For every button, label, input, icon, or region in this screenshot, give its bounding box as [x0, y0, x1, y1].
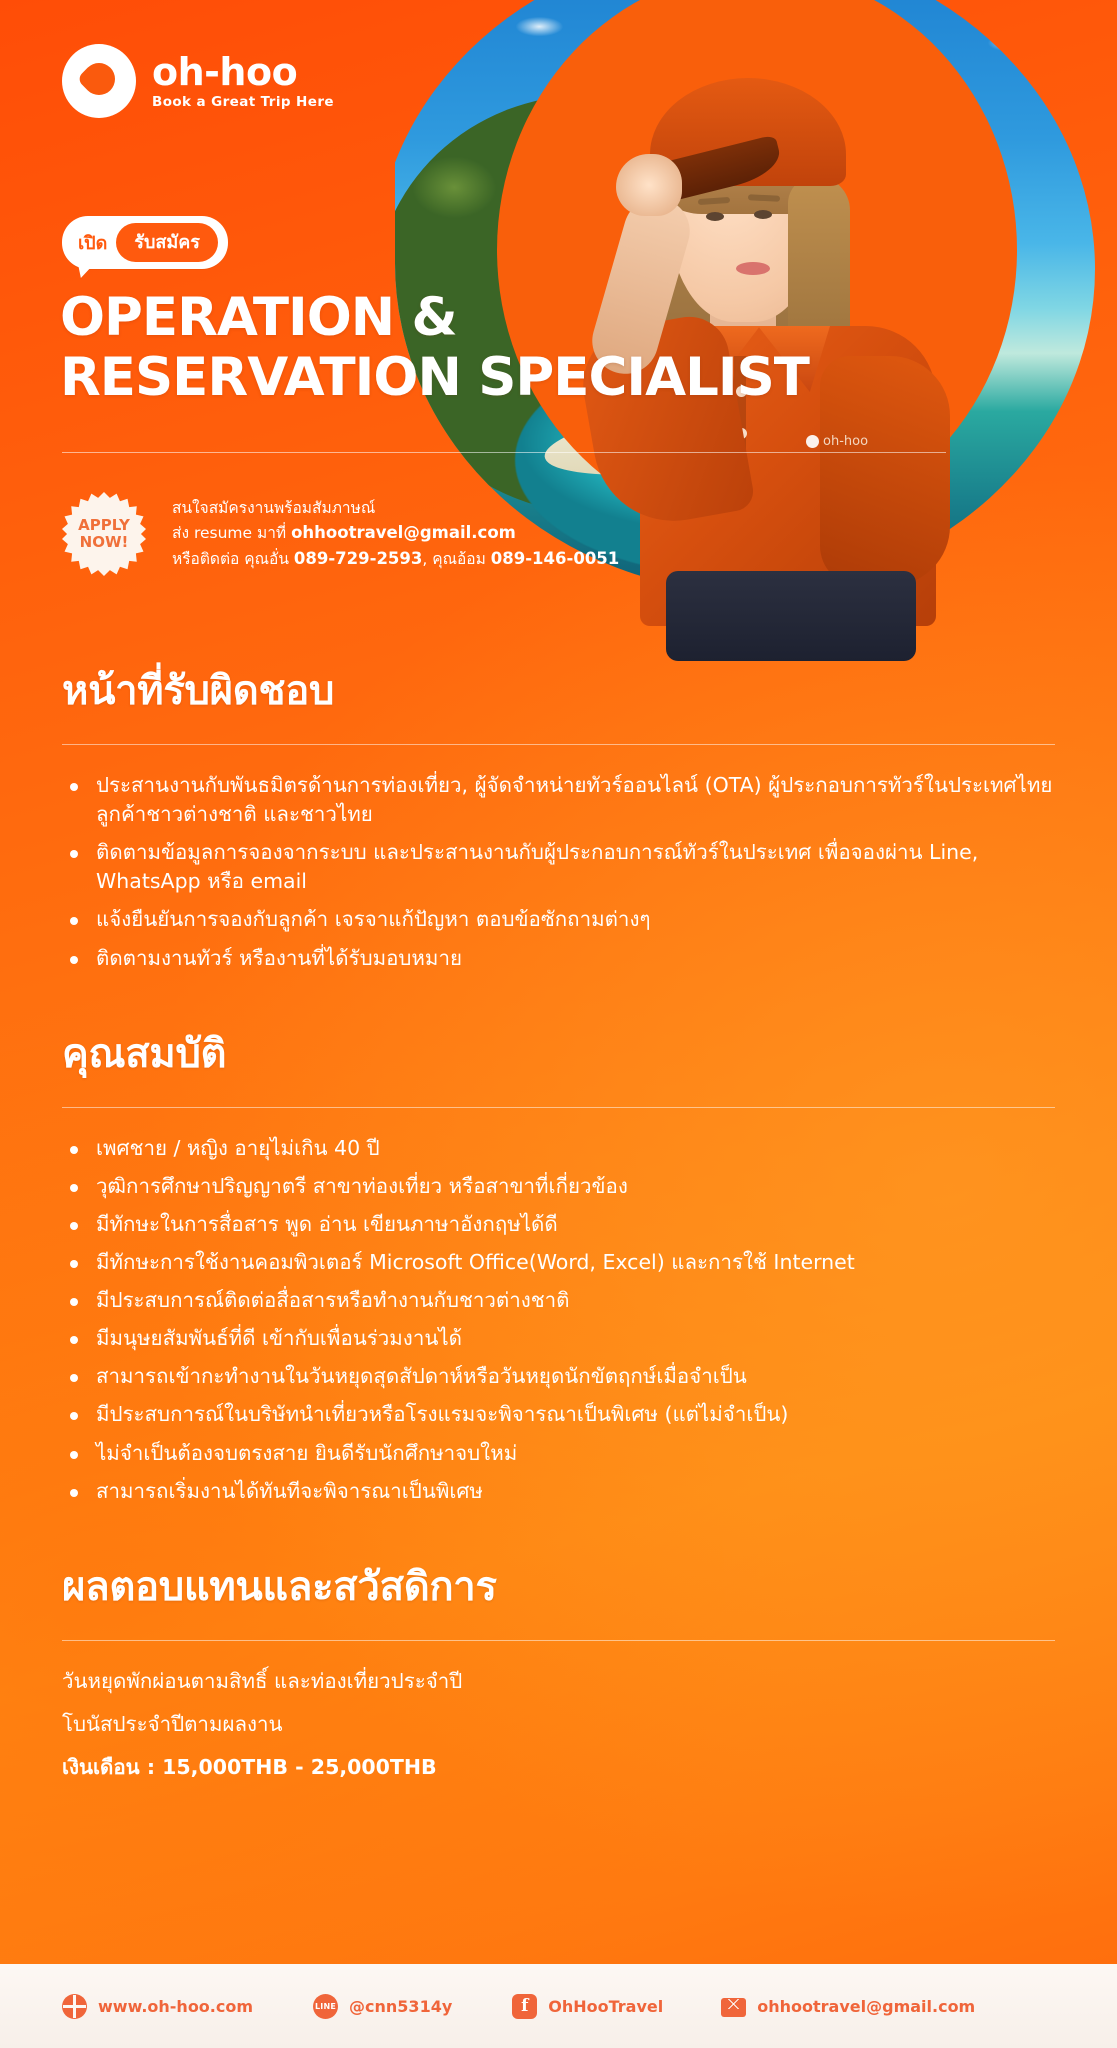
trousers	[666, 571, 916, 661]
apply-now-stamp: APPLY NOW!	[62, 492, 146, 576]
footer-item-email[interactable]: ohhootravel@gmail.com	[721, 1995, 975, 2017]
benefits-section: ผลตอบแทนและสวัสดิการ วันหยุดพักผ่อนตามสิ…	[0, 1554, 1117, 1782]
phone-number-2[interactable]: 089-146-0051	[491, 549, 620, 568]
footer-contact-bar: www.oh-hoo.com LINE @cnn5314y f OhHooTra…	[0, 1964, 1117, 2048]
page-title: OPERATION & RESERVATION SPECIALIST	[60, 288, 809, 409]
list-item: มีทักษะในการสื่อสาร พูด อ่าน เขียนภาษาอั…	[62, 1210, 1055, 1239]
section-divider	[62, 1640, 1055, 1641]
list-item: ติดตามงานทัวร์ หรืองานที่ได้รับมอบหมาย	[62, 944, 1055, 973]
globe-icon	[62, 1994, 87, 2019]
resume-email[interactable]: ohhootravel@gmail.com	[291, 523, 516, 542]
brand-logo[interactable]: oh-hoo Book a Great Trip Here	[62, 44, 334, 118]
shirt-logo-mark	[806, 435, 819, 448]
brand-text: oh-hoo Book a Great Trip Here	[152, 53, 334, 110]
phone-separator: , คุณอ้อม	[422, 550, 490, 568]
hero-divider	[62, 452, 946, 453]
section-divider	[62, 744, 1055, 745]
section-heading: คุณสมบัติ	[62, 1021, 1055, 1085]
line-icon: LINE	[313, 1994, 338, 2019]
shirt-logo-text: oh-hoo	[823, 434, 868, 449]
shirt-logo: oh-hoo	[806, 434, 868, 449]
list-item: สามารถเข้ากะทำงานในวันหยุดสุดสัปดาห์หรือ…	[62, 1362, 1055, 1391]
badge-label: เปิด	[78, 228, 107, 257]
phone-number-1[interactable]: 089-729-2593	[294, 549, 423, 568]
apply-stamp-line-1: APPLY	[78, 517, 130, 534]
now-hiring-badge: เปิด รับสมัคร	[62, 216, 228, 269]
contact-details: สนใจสมัครงานพร้อมสัมภาษณ์ ส่ง resume มาท…	[172, 497, 619, 572]
eye-right	[754, 210, 772, 219]
footer-website-label: www.oh-hoo.com	[98, 1997, 253, 2016]
eye-left	[706, 212, 724, 221]
apply-block: APPLY NOW! สนใจสมัครงานพร้อมสัมภาษณ์ ส่ง…	[62, 492, 619, 576]
brand-tagline: Book a Great Trip Here	[152, 96, 334, 110]
list-item: สามารถเริ่มงานได้ทันทีจะพิจารณาเป็นพิเศษ	[62, 1477, 1055, 1506]
list-item: มีมนุษยสัมพันธ์ที่ดี เข้ากับเพื่อนร่วมงา…	[62, 1324, 1055, 1353]
resume-prefix: ส่ง resume มาที่	[172, 524, 291, 542]
section-heading: หน้าที่รับผิดชอบ	[62, 658, 1055, 722]
phone-prefix: หรือติดต่อ คุณอั่น	[172, 550, 294, 568]
arm-right	[820, 356, 950, 586]
contact-line-1: สนใจสมัครงานพร้อมสัมภาษณ์	[172, 497, 619, 521]
responsibilities-list: ประสานงานกับพันธมิตรด้านการท่องเที่ยว, ผ…	[62, 771, 1055, 973]
job-title-line-1: OPERATION &	[60, 288, 809, 348]
salary-line: เงินเดือน : 15,000THB - 25,000THB	[62, 1753, 1055, 1782]
hero-section: oh-hoo oh-hoo Book a Great Trip Here เปิ…	[0, 0, 1117, 600]
footer-item-facebook[interactable]: f OhHooTravel	[512, 1994, 663, 2019]
contact-line-2: ส่ง resume มาที่ ohhootravel@gmail.com	[172, 520, 619, 546]
hand	[616, 154, 682, 216]
benefit-line: วันหยุดพักผ่อนตามสิทธิ์ และท่องเที่ยวประ…	[62, 1667, 1055, 1696]
speech-bubble-circle-icon	[62, 44, 136, 118]
list-item: มีทักษะการใช้งานคอมพิวเตอร์ Microsoft Of…	[62, 1248, 1055, 1277]
list-item: วุฒิการศึกษาปริญญาตรี สาขาท่องเที่ยว หรื…	[62, 1172, 1055, 1201]
footer-facebook-label: OhHooTravel	[548, 1997, 663, 2016]
list-item: มีประสบการณ์ติดต่อสื่อสารหรือทำงานกับชาว…	[62, 1286, 1055, 1315]
job-title-line-2: RESERVATION SPECIALIST	[60, 348, 809, 408]
apply-stamp-line-2: NOW!	[80, 534, 129, 551]
contact-line-3: หรือติดต่อ คุณอั่น 089-729-2593, คุณอ้อม…	[172, 546, 619, 572]
responsibilities-section: หน้าที่รับผิดชอบ ประสานงานกับพันธมิตรด้า…	[0, 658, 1117, 973]
list-item: ติดตามข้อมูลการจองจากระบบ และประสานงานกั…	[62, 838, 1055, 896]
benefit-line: โบนัสประจำปีตามผลงาน	[62, 1710, 1055, 1739]
list-item: แจ้งยืนยันการจองกับลูกค้า เจรจาแก้ปัญหา …	[62, 905, 1055, 934]
benefits-lines: วันหยุดพักผ่อนตามสิทธิ์ และท่องเที่ยวประ…	[62, 1667, 1055, 1782]
footer-item-website[interactable]: www.oh-hoo.com	[62, 1994, 253, 2019]
mouth	[736, 262, 770, 275]
email-icon	[721, 1998, 746, 2017]
qualifications-list: เพศชาย / หญิง อายุไม่เกิน 40 ปี วุฒิการศ…	[62, 1134, 1055, 1506]
list-item: มีประสบการณ์ในบริษัทนำเที่ยวหรือโรงแรมจะ…	[62, 1400, 1055, 1429]
section-heading: ผลตอบแทนและสวัสดิการ	[62, 1554, 1055, 1618]
brand-name: oh-hoo	[152, 53, 334, 91]
facebook-icon: f	[512, 1994, 537, 2019]
qualifications-section: คุณสมบัติ เพศชาย / หญิง อายุไม่เกิน 40 ป…	[0, 1021, 1117, 1506]
section-divider	[62, 1107, 1055, 1108]
list-item: เพศชาย / หญิง อายุไม่เกิน 40 ปี	[62, 1134, 1055, 1163]
list-item: ประสานงานกับพันธมิตรด้านการท่องเที่ยว, ผ…	[62, 771, 1055, 829]
job-poster: oh-hoo oh-hoo Book a Great Trip Here เปิ…	[0, 0, 1117, 2048]
footer-email-label: ohhootravel@gmail.com	[757, 1997, 975, 2016]
list-item: ไม่จำเป็นต้องจบตรงสาย ยินดีรับนักศึกษาจบ…	[62, 1439, 1055, 1468]
footer-item-line[interactable]: LINE @cnn5314y	[313, 1994, 452, 2019]
footer-line-label: @cnn5314y	[349, 1997, 452, 2016]
badge-pill: รับสมัคร	[116, 223, 218, 262]
